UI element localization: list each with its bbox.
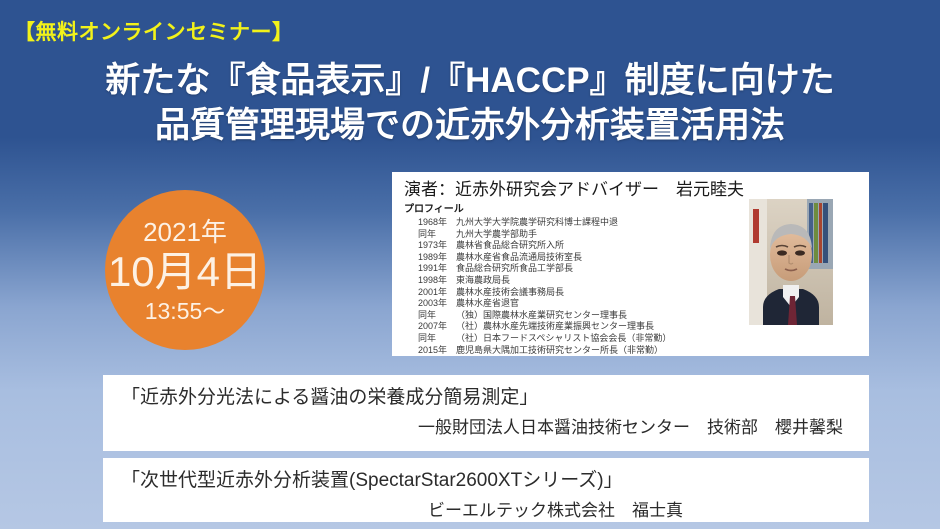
date-badge: 2021年 10月4日 13:55〜: [105, 190, 265, 350]
profile-year: 同年: [404, 229, 456, 241]
speaker-portrait: [749, 199, 833, 325]
session-title: 「近赤外分光法による醤油の栄養成分簡易測定」: [121, 385, 851, 411]
profile-year: 2001年: [404, 287, 456, 299]
title-line-2: 品質管理現場での近赤外分析装置活用法: [0, 103, 940, 148]
date-time: 13:55〜: [145, 298, 226, 324]
profile-row: 同年（社）日本フードスペシャリスト協会会長（非常勤）: [404, 333, 859, 345]
profile-row: 2015年鹿児島県大隅加工技術研究センター所長（非常勤）: [404, 345, 859, 356]
profile-year: 2007年: [404, 321, 456, 333]
seminar-poster: 【無料オンラインセミナー】 新たな『食品表示』/『HACCP』制度に向けた 品質…: [0, 0, 940, 529]
profile-year: 2003年: [404, 298, 456, 310]
session-presenter: 一般財団法人日本醤油技術センター 技術部 櫻井馨梨: [121, 416, 851, 440]
date-day: 10月4日: [108, 248, 262, 296]
profile-year: 1998年: [404, 275, 456, 287]
profile-year: 1968年: [404, 217, 456, 229]
profile-year: 2015年: [404, 345, 456, 356]
profile-year: 同年: [404, 310, 456, 322]
date-year: 2021年: [143, 217, 227, 247]
profile-year: 1991年: [404, 263, 456, 275]
session-panel-2: 「次世代型近赤外分析装置(SpectarStar2600XTシリーズ)」 ビーエ…: [103, 458, 869, 522]
profile-year: 1989年: [404, 252, 456, 264]
speaker-heading: 演者：近赤外研究会アドバイザー 岩元睦夫: [404, 179, 859, 201]
session-presenter: ビーエルテック株式会社 福士真: [121, 499, 851, 523]
profile-text: （社）日本フードスペシャリスト協会会長（非常勤）: [456, 333, 859, 345]
profile-text: 鹿児島県大隅加工技術研究センター所長（非常勤）: [456, 345, 859, 356]
eyebrow-label: 【無料オンラインセミナー】: [14, 16, 294, 46]
profile-year: 同年: [404, 333, 456, 345]
profile-year: 1973年: [404, 240, 456, 252]
session-title: 「次世代型近赤外分析装置(SpectarStar2600XTシリーズ)」: [121, 468, 851, 494]
speaker-profile-panel: 演者：近赤外研究会アドバイザー 岩元睦夫 プロフィール 1968年九州大学大学院…: [392, 172, 869, 356]
session-panel-1: 「近赤外分光法による醤油の栄養成分簡易測定」 一般財団法人日本醤油技術センター …: [103, 375, 869, 451]
title-line-1: 新たな『食品表示』/『HACCP』制度に向けた: [0, 58, 940, 103]
page-title: 新たな『食品表示』/『HACCP』制度に向けた 品質管理現場での近赤外分析装置活…: [0, 58, 940, 148]
